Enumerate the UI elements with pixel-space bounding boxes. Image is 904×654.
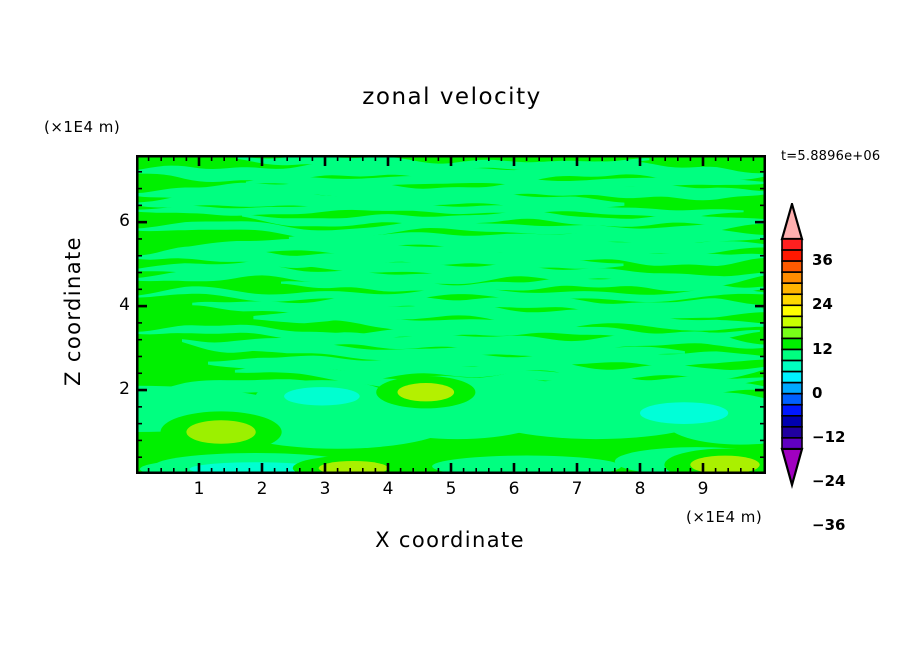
figure-canvas: zonal velocity (×1E4 m) t=5.8896e+06 123… <box>0 0 904 654</box>
contour-feature <box>256 380 388 412</box>
colorbar-tick-label: 0 <box>812 384 822 402</box>
x-tick-label: 6 <box>499 479 529 499</box>
x-tick-label: 5 <box>436 479 466 499</box>
x-tick-label: 9 <box>688 479 718 499</box>
x-tick-label: 1 <box>184 479 214 499</box>
contour-feature <box>161 411 282 452</box>
contour-feature <box>607 394 761 432</box>
y-tick-label: 6 <box>100 211 130 231</box>
x-axis-unit-label: (×1E4 m) <box>686 508 762 526</box>
contour-feature <box>376 376 475 408</box>
colorbar[interactable] <box>775 203 811 523</box>
y-tick-label: 4 <box>100 295 130 315</box>
colorbar-tick-label: 24 <box>812 295 833 313</box>
colorbar-under-arrow <box>782 449 802 485</box>
colorbar-tick-label: 12 <box>812 340 833 358</box>
x-tick-label: 7 <box>562 479 592 499</box>
y-axis-unit-label: (×1E4 m) <box>44 118 120 136</box>
y-tick-label: 2 <box>100 379 130 399</box>
contour-field-plot[interactable] <box>136 155 766 474</box>
x-tick-label: 2 <box>247 479 277 499</box>
colorbar-over-arrow <box>782 204 802 239</box>
colorbar-tick-label: 36 <box>812 251 833 269</box>
colorbar-tick-label: −12 <box>812 428 845 446</box>
colorbar-tick-label: −36 <box>812 516 845 534</box>
time-stamp-label: t=5.8896e+06 <box>781 149 880 164</box>
page-title: zonal velocity <box>0 84 904 110</box>
x-tick-label: 8 <box>625 479 655 499</box>
x-axis-title: X coordinate <box>240 528 660 552</box>
y-axis-title: Z coordinate <box>61 201 85 421</box>
colorbar-tick-label: −24 <box>812 472 845 490</box>
x-tick-label: 3 <box>310 479 340 499</box>
x-tick-label: 4 <box>373 479 403 499</box>
